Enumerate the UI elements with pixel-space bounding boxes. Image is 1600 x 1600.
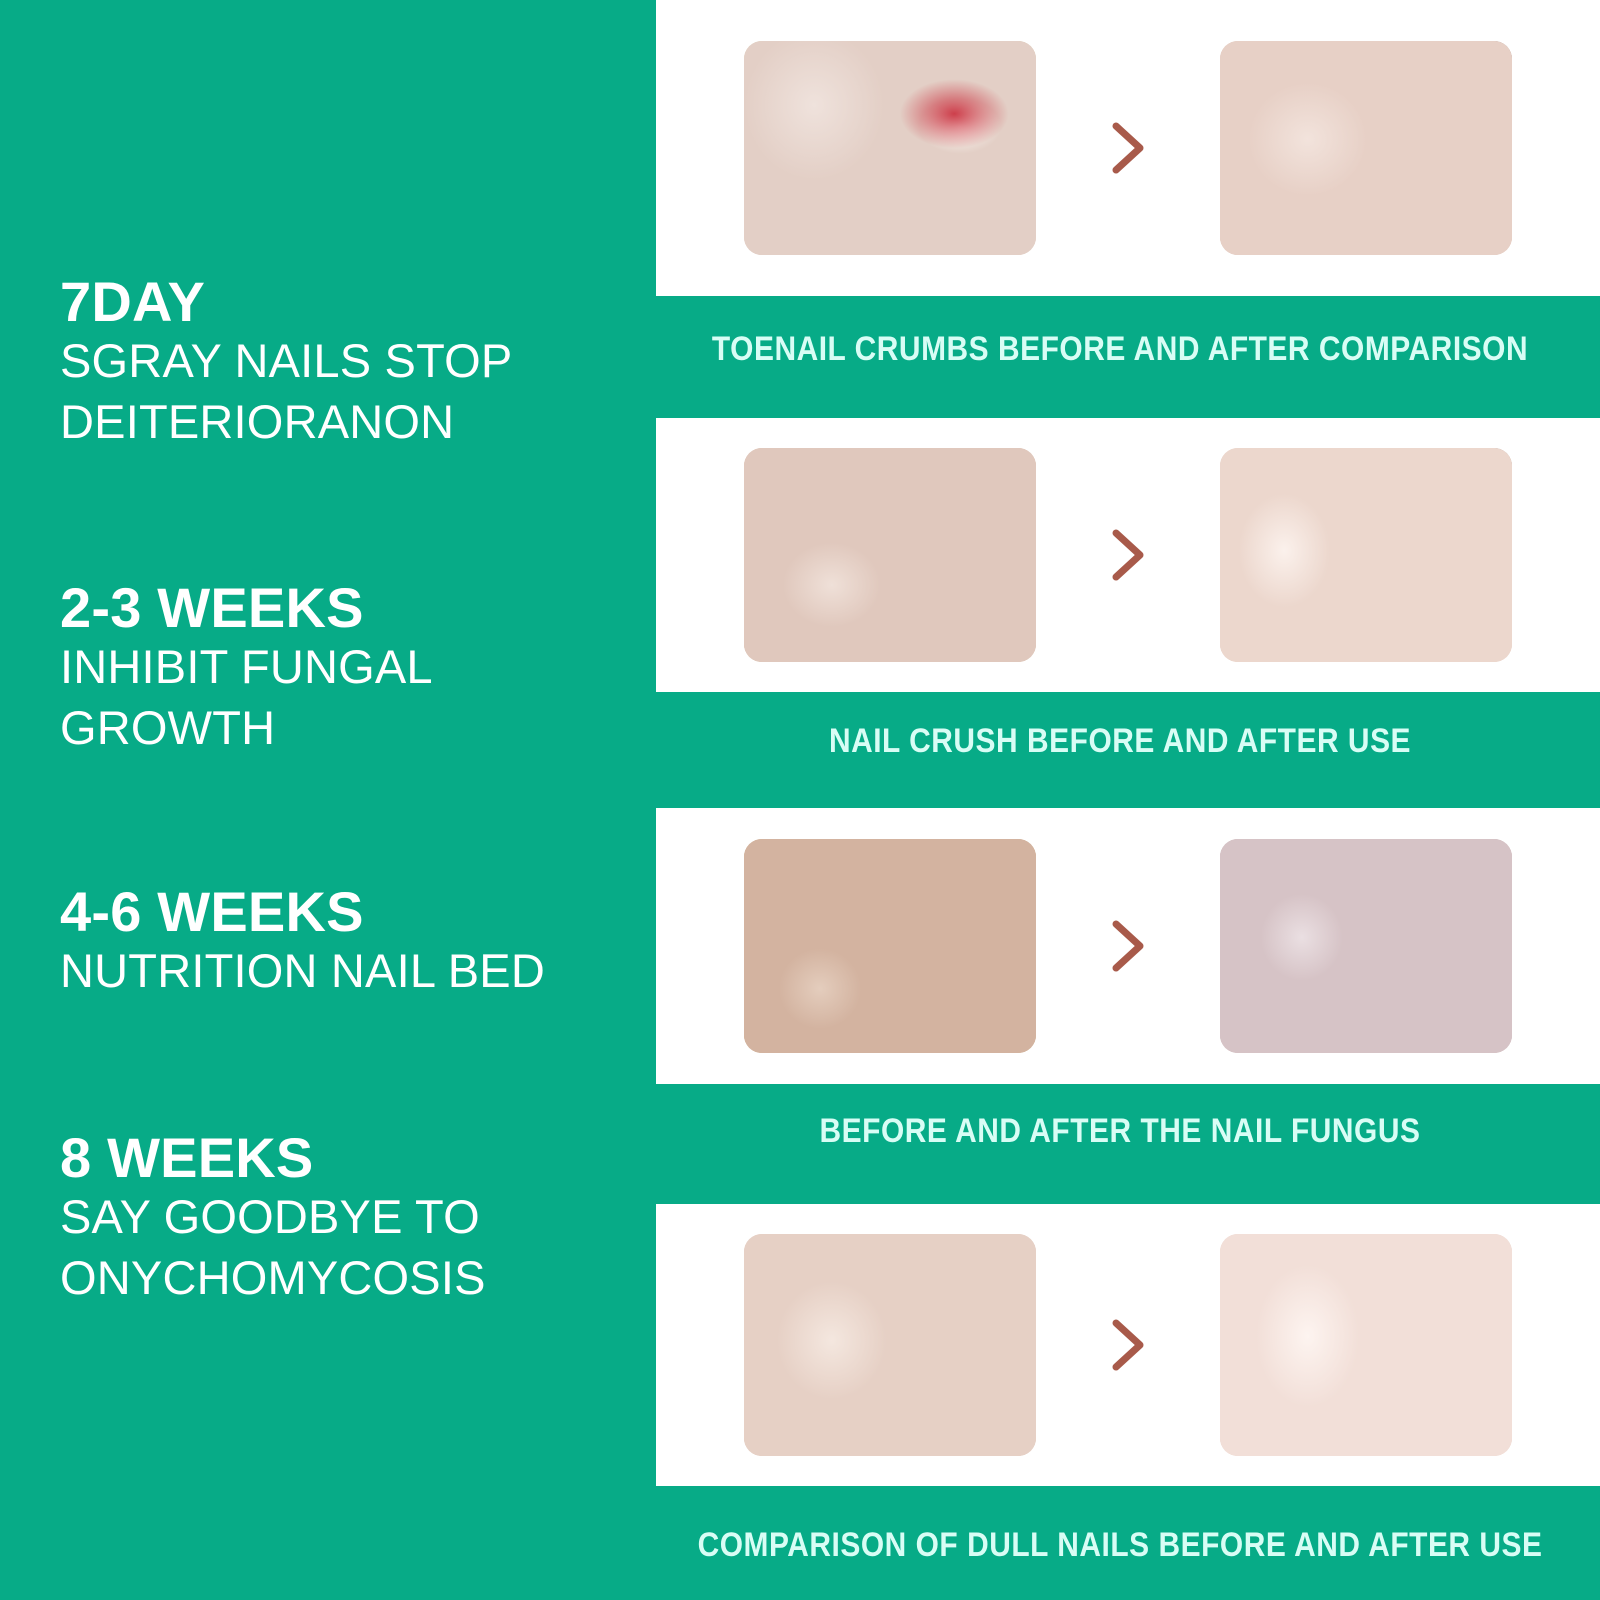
- timeline-description-line-1: INHIBIT FUNGAL: [60, 637, 630, 697]
- timeline-item-2: 2-3 WEEKS INHIBIT FUNGAL GROWTH: [60, 578, 630, 758]
- after-image-3: [1220, 839, 1512, 1053]
- comparison-caption-2: NAIL CRUSH BEFORE AND AFTER USE: [698, 722, 1543, 761]
- chevron-right-icon: [1096, 525, 1160, 585]
- before-after-pair: [656, 839, 1600, 1053]
- timeline-duration: 4-6 WEEKS: [60, 882, 630, 941]
- comparison-panel-1: [656, 0, 1600, 296]
- chevron-right-icon: [1096, 916, 1160, 976]
- before-after-pair: [656, 1234, 1600, 1456]
- timeline-description-line-2: GROWTH: [60, 698, 630, 758]
- chevron-right-icon: [1096, 118, 1160, 178]
- timeline-column: 7DAY SGRAY NAILS STOP DEITERIORANON 2-3 …: [0, 0, 640, 1600]
- chevron-right-icon: [1096, 1315, 1160, 1375]
- after-image-1: [1220, 41, 1512, 255]
- comparison-caption-1: TOENAIL CRUMBS BEFORE AND AFTER COMPARIS…: [698, 330, 1543, 369]
- infographic-page: 7DAY SGRAY NAILS STOP DEITERIORANON 2-3 …: [0, 0, 1600, 1600]
- before-image-2: [744, 448, 1036, 662]
- before-image-4: [744, 1234, 1036, 1456]
- comparison-panel-3: [656, 808, 1600, 1084]
- timeline-description-line-2: DEITERIORANON: [60, 392, 630, 452]
- comparison-column: TOENAIL CRUMBS BEFORE AND AFTER COMPARIS…: [640, 0, 1600, 1600]
- comparison-caption-4: COMPARISON OF DULL NAILS BEFORE AND AFTE…: [698, 1526, 1543, 1565]
- timeline-description-line-1: SGRAY NAILS STOP: [60, 331, 630, 391]
- timeline-description-line-1: NUTRITION NAIL BED: [60, 941, 630, 1001]
- after-image-2: [1220, 448, 1512, 662]
- before-after-pair: [656, 448, 1600, 662]
- timeline-item-4: 8 WEEKS SAY GOODBYE TO ONYCHOMYCOSIS: [60, 1128, 630, 1308]
- comparison-panel-2: [656, 418, 1600, 692]
- timeline-duration: 7DAY: [60, 272, 630, 331]
- timeline-item-3: 4-6 WEEKS NUTRITION NAIL BED: [60, 882, 630, 1002]
- before-image-3: [744, 839, 1036, 1053]
- before-after-pair: [656, 41, 1600, 255]
- comparison-caption-3: BEFORE AND AFTER THE NAIL FUNGUS: [698, 1112, 1543, 1151]
- timeline-description-line-2: ONYCHOMYCOSIS: [60, 1248, 630, 1308]
- timeline-duration: 8 WEEKS: [60, 1128, 630, 1187]
- timeline-duration: 2-3 WEEKS: [60, 578, 630, 637]
- comparison-panel-4: [656, 1204, 1600, 1486]
- after-image-4: [1220, 1234, 1512, 1456]
- timeline-description-line-1: SAY GOODBYE TO: [60, 1187, 630, 1247]
- timeline-item-1: 7DAY SGRAY NAILS STOP DEITERIORANON: [60, 272, 630, 452]
- before-image-1: [744, 41, 1036, 255]
